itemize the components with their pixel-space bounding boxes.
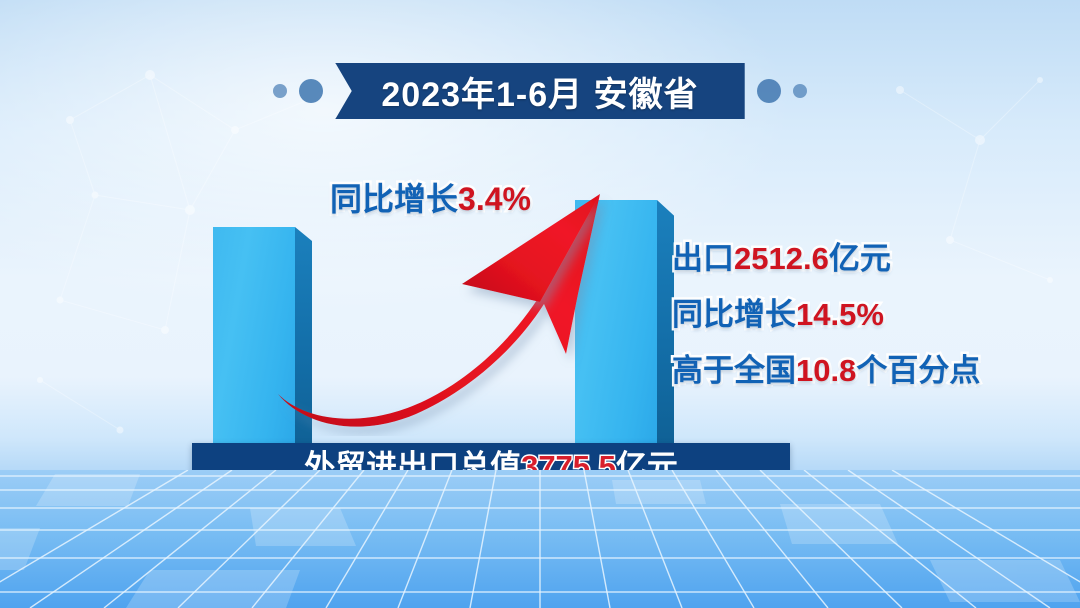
header-banner: 2023年1-6月 安徽省 — [335, 63, 744, 119]
growth-label-prefix: 同比增长 — [330, 181, 458, 217]
stat-prefix: 同比增长 — [672, 297, 796, 332]
stat-line-export-growth: 同比增长14.5% — [672, 299, 980, 330]
infographic-stage: 2023年1-6月 安徽省 — [0, 0, 1080, 608]
stat-prefix: 高于全国 — [672, 353, 796, 388]
decor-dot-right-small — [793, 84, 807, 98]
page-title: 2023年1-6月 安徽省 — [381, 67, 698, 116]
growth-rate-label: 同比增长3.4% — [330, 183, 531, 215]
stat-value: 10.8 — [796, 353, 856, 388]
stats-block: 出口2512.6亿元 同比增长14.5% 高于全国10.8个百分点 — [672, 243, 980, 386]
decor-dot-left-large — [299, 79, 323, 103]
decor-dot-left-small — [273, 84, 287, 98]
perspective-floor-grid — [0, 470, 1080, 608]
stat-suffix: 个百分点 — [856, 353, 980, 388]
growth-arrow-icon — [248, 186, 648, 436]
stat-value: 14.5% — [796, 297, 884, 332]
stat-suffix: 亿元 — [829, 241, 891, 276]
stat-line-above-national: 高于全国10.8个百分点 — [672, 355, 980, 386]
decor-dot-right-large — [757, 79, 781, 103]
growth-label-value: 3.4% — [458, 181, 531, 217]
stat-value: 2512.6 — [734, 241, 829, 276]
stat-prefix: 出口 — [672, 241, 734, 276]
header-banner-row: 2023年1-6月 安徽省 — [0, 60, 1080, 122]
stat-line-export: 出口2512.6亿元 — [672, 243, 980, 274]
